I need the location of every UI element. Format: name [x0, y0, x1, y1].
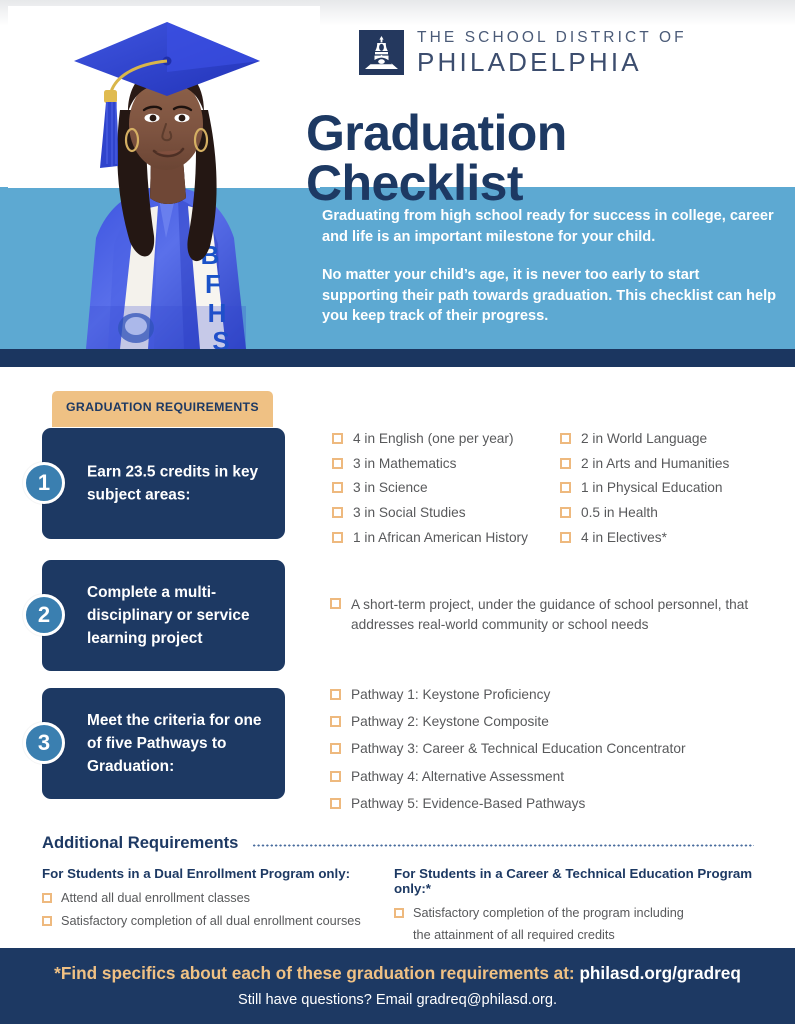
- footer-prefix-text: *Find specifics about each of these grad…: [54, 963, 579, 983]
- list-item-label: Pathway 3: Career & Technical Education …: [351, 740, 686, 758]
- list-item-label: 0.5 in Health: [581, 504, 658, 522]
- list-item[interactable]: 4 in English (one per year): [332, 430, 554, 448]
- step-2-number: 2: [23, 594, 65, 636]
- checkbox-icon[interactable]: [330, 771, 341, 782]
- graduation-requirements-badge: GRADUATION REQUIREMENTS: [52, 391, 273, 427]
- list-item-label: Satisfactory completion of all dual enro…: [61, 913, 361, 930]
- list-item[interactable]: Pathway 1: Keystone Proficiency: [330, 686, 730, 704]
- step-2-box: Complete a multi-disciplinary or service…: [42, 560, 285, 671]
- list-item[interactable]: 4 in Electives*: [560, 529, 780, 547]
- footer-primary-line: *Find specifics about each of these grad…: [0, 963, 795, 984]
- step-3-number: 3: [23, 722, 65, 764]
- project-list: A short-term project, under the guidance…: [330, 595, 750, 641]
- list-item[interactable]: Pathway 3: Career & Technical Education …: [330, 740, 730, 758]
- list-item[interactable]: Pathway 4: Alternative Assessment: [330, 768, 730, 786]
- list-item-label: 1 in African American History: [353, 529, 528, 547]
- list-item-label: Satisfactory completion of the program i…: [413, 905, 684, 922]
- list-item[interactable]: A short-term project, under the guidance…: [330, 595, 750, 635]
- dual-enrollment-column: For Students in a Dual Enrollment Progra…: [42, 866, 392, 937]
- list-item-label: 3 in Science: [353, 479, 428, 497]
- checkbox-icon[interactable]: [394, 908, 404, 918]
- career-technical-column: For Students in a Career & Technical Edu…: [394, 866, 764, 942]
- checkbox-icon[interactable]: [560, 532, 571, 543]
- logo-line-1: THE SCHOOL DISTRICT OF: [417, 30, 687, 46]
- list-item-label: 2 in Arts and Humanities: [581, 455, 729, 473]
- credits-list-left: 4 in English (one per year) 3 in Mathema…: [332, 430, 554, 554]
- checkbox-icon[interactable]: [330, 716, 341, 727]
- step-3-title: Meet the criteria for one of five Pathwa…: [87, 708, 272, 778]
- dotted-rule: [252, 844, 754, 847]
- checkbox-icon[interactable]: [330, 743, 341, 754]
- footer: *Find specifics about each of these grad…: [0, 948, 795, 1024]
- navy-divider-bar: [0, 349, 795, 367]
- step-1-box: Earn 23.5 credits in key subject areas:: [42, 428, 285, 539]
- list-item[interactable]: 1 in Physical Education: [560, 479, 780, 497]
- checkbox-icon[interactable]: [560, 482, 571, 493]
- list-item[interactable]: Satisfactory completion of the program i…: [394, 905, 764, 922]
- list-item-label: Pathway 4: Alternative Assessment: [351, 768, 564, 786]
- intro-paragraph-2: No matter your child’s age, it is never …: [322, 265, 777, 328]
- additional-requirements-header: Additional Requirements: [42, 833, 754, 853]
- footer-url-link[interactable]: philasd.org/gradreq: [579, 963, 740, 983]
- step-2-title: Complete a multi-disciplinary or service…: [87, 580, 272, 650]
- list-item-label: 4 in Electives*: [581, 529, 667, 547]
- list-item[interactable]: 1 in African American History: [332, 529, 554, 547]
- list-item-label: 3 in Social Studies: [353, 504, 466, 522]
- list-item-label: 3 in Mathematics: [353, 455, 456, 473]
- graduation-checklist-page: B F H S: [0, 0, 795, 1024]
- checkbox-icon[interactable]: [330, 598, 341, 609]
- intro-paragraph-1: Graduating from high school ready for su…: [322, 206, 777, 248]
- list-item-label: Pathway 2: Keystone Composite: [351, 713, 549, 731]
- list-item[interactable]: 3 in Mathematics: [332, 455, 554, 473]
- checkbox-icon[interactable]: [42, 916, 52, 926]
- list-item[interactable]: 0.5 in Health: [560, 504, 780, 522]
- checkbox-icon[interactable]: [332, 458, 343, 469]
- page-title: Graduation Checklist: [306, 108, 776, 208]
- list-item-label: A short-term project, under the guidance…: [351, 595, 750, 635]
- list-item[interactable]: Satisfactory completion of all dual enro…: [42, 913, 392, 930]
- bell-tower-logo-icon: [359, 30, 404, 75]
- dual-enrollment-subtitle: For Students in a Dual Enrollment Progra…: [42, 866, 392, 881]
- list-item-label: Pathway 1: Keystone Proficiency: [351, 686, 550, 704]
- checkbox-icon[interactable]: [42, 893, 52, 903]
- checkbox-icon[interactable]: [332, 433, 343, 444]
- list-item[interactable]: Pathway 2: Keystone Composite: [330, 713, 730, 731]
- checkbox-icon[interactable]: [332, 482, 343, 493]
- additional-requirements-title: Additional Requirements: [42, 833, 238, 853]
- checkbox-icon[interactable]: [330, 798, 341, 809]
- footer-secondary-line: Still have questions? Email gradreq@phil…: [0, 992, 795, 1008]
- graduate-in-cap-and-gown-photo: B F H S: [8, 6, 320, 349]
- list-item[interactable]: Attend all dual enrollment classes: [42, 890, 392, 907]
- logo-line-2: PHILADELPHIA: [417, 49, 687, 75]
- checkbox-icon[interactable]: [332, 532, 343, 543]
- step-1-number: 1: [23, 462, 65, 504]
- checkbox-icon[interactable]: [330, 689, 341, 700]
- list-item[interactable]: 3 in Social Studies: [332, 504, 554, 522]
- career-technical-subtitle: For Students in a Career & Technical Edu…: [394, 866, 764, 896]
- list-item[interactable]: 2 in World Language: [560, 430, 780, 448]
- intro-text: Graduating from high school ready for su…: [322, 206, 777, 327]
- list-item-label: Attend all dual enrollment classes: [61, 890, 250, 907]
- credits-list-right: 2 in World Language 2 in Arts and Humani…: [560, 430, 780, 554]
- list-item-label: 1 in Physical Education: [581, 479, 723, 497]
- checkbox-icon[interactable]: [560, 458, 571, 469]
- list-item-label: 4 in English (one per year): [353, 430, 514, 448]
- checkbox-icon[interactable]: [332, 507, 343, 518]
- list-item[interactable]: 3 in Science: [332, 479, 554, 497]
- checkbox-icon[interactable]: [560, 507, 571, 518]
- list-item[interactable]: 2 in Arts and Humanities: [560, 455, 780, 473]
- step-1-title: Earn 23.5 credits in key subject areas:: [87, 460, 272, 507]
- list-item-label: Pathway 5: Evidence-Based Pathways: [351, 795, 585, 813]
- step-3-box: Meet the criteria for one of five Pathwa…: [42, 688, 285, 799]
- checkbox-icon[interactable]: [560, 433, 571, 444]
- career-technical-continuation: the attainment of all required credits: [394, 928, 764, 942]
- list-item[interactable]: Pathway 5: Evidence-Based Pathways: [330, 795, 730, 813]
- district-logo: THE SCHOOL DISTRICT OF PHILADELPHIA: [359, 30, 687, 75]
- svg-text:F: F: [205, 269, 221, 299]
- list-item-label: 2 in World Language: [581, 430, 707, 448]
- pathways-list: Pathway 1: Keystone Proficiency Pathway …: [330, 686, 730, 822]
